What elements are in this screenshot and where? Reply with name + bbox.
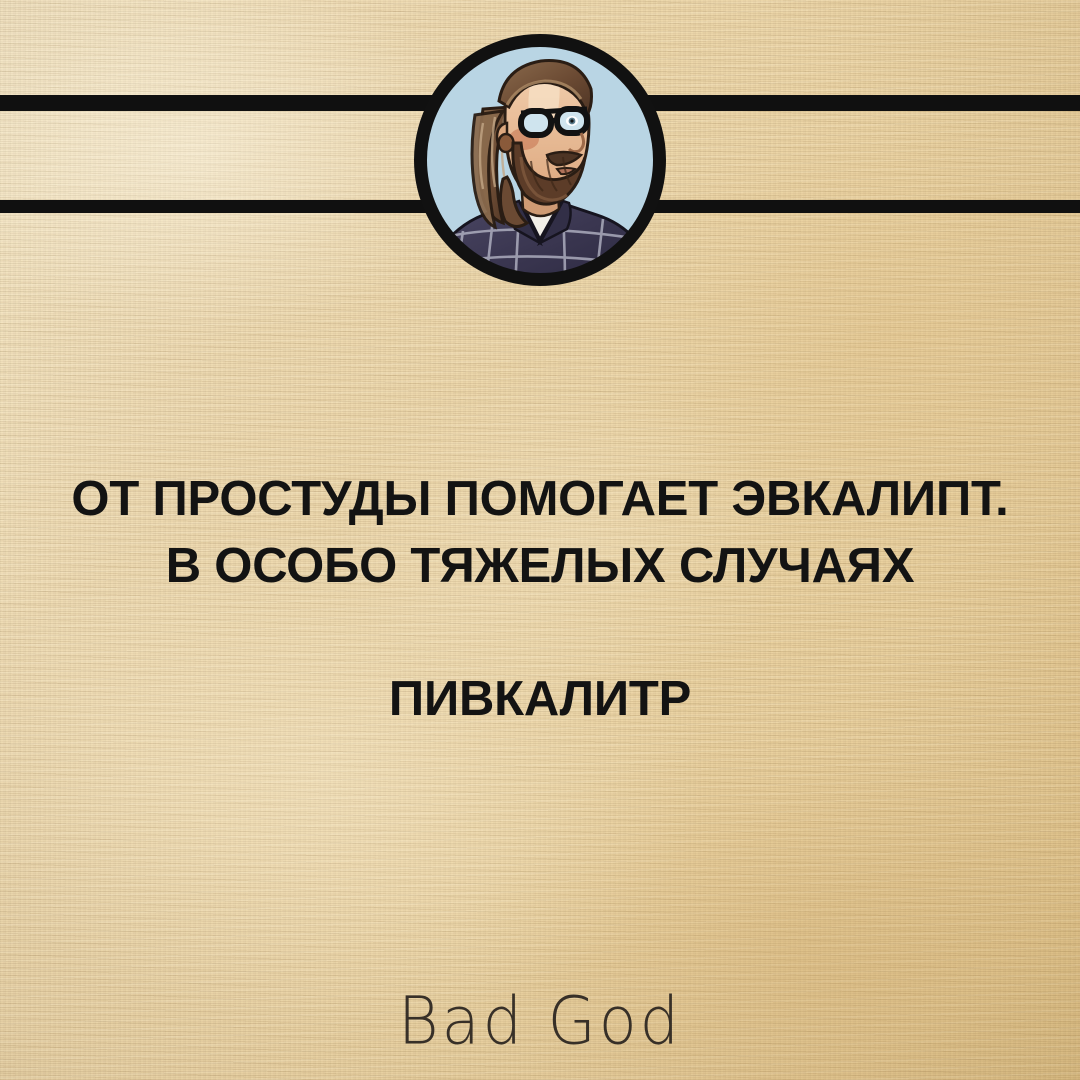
watermark: Bad God <box>0 982 1080 1059</box>
avatar <box>411 31 669 289</box>
meme-poster: ОТ ПРОСТУДЫ ПОМОГАЕТ ЭВКАЛИПТ. В ОСОБО Т… <box>0 0 1080 1080</box>
meme-punchline: ПИВКАЛИТР <box>0 666 1080 733</box>
avatar-illustration <box>411 31 669 289</box>
glasses-bridge <box>551 120 557 121</box>
headline-line-1: ОТ ПРОСТУДЫ ПОМОГАЕТ ЭВКАЛИПТ. <box>0 466 1080 533</box>
headline-line-2: В ОСОБО ТЯЖЕЛЫХ СЛУЧАЯХ <box>0 533 1080 600</box>
glasses-lens-left <box>521 111 551 135</box>
meme-headline: ОТ ПРОСТУДЫ ПОМОГАЕТ ЭВКАЛИПТ. В ОСОБО Т… <box>0 466 1080 600</box>
ear-gauge <box>499 134 514 152</box>
eye-pupil <box>570 119 573 122</box>
